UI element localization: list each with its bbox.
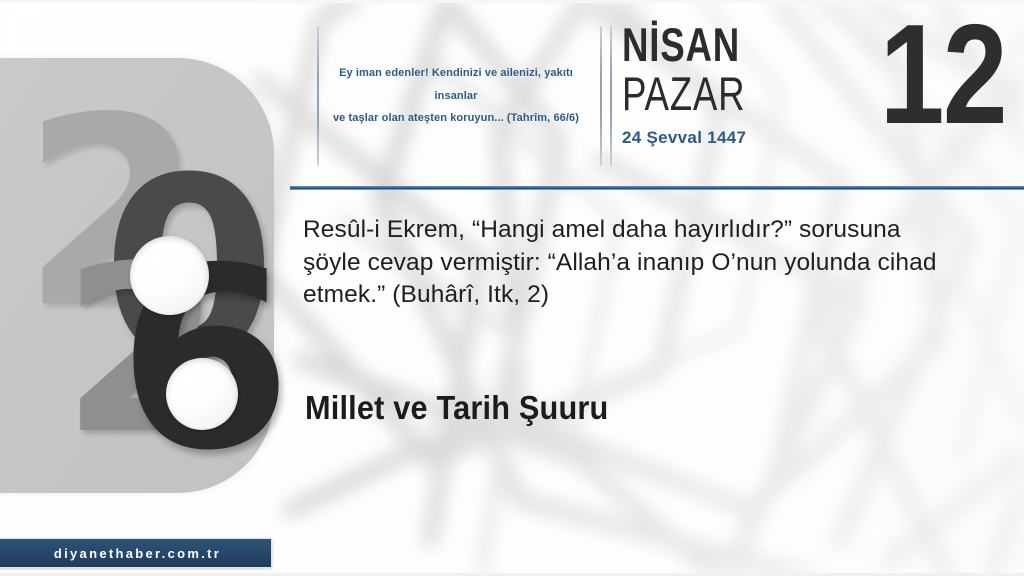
footer-url-text: diyanethaber.com.tr xyxy=(42,546,221,561)
verse-divider-right-inner xyxy=(610,26,612,166)
header-separator-rule xyxy=(290,186,1024,190)
footer-url-bar[interactable]: diyanethaber.com.tr xyxy=(0,538,272,568)
year-logo-counter-hole-lower xyxy=(166,358,238,430)
quran-verse-line-1: Ey iman edenler! Kendinizi ve ailenizi, … xyxy=(339,67,573,102)
date-block: NİSAN PAZAR 24 Şevval 1447 xyxy=(622,22,842,148)
quran-verse-text: Ey iman edenler! Kendinizi ve ailenizi, … xyxy=(320,62,592,130)
calendar-poster: 2 0 2 6 Ey iman edenler! Kendinizi ve ai… xyxy=(0,0,1024,576)
top-edge-strip xyxy=(0,0,1024,3)
quran-verse-block: Ey iman edenler! Kendinizi ve ailenizi, … xyxy=(306,26,606,166)
subject-title: Millet ve Tarih Şuuru xyxy=(305,389,608,427)
hadith-quote-text: Resûl-i Ekrem, “Hangi amel daha hayırlıd… xyxy=(303,214,963,312)
day-number: 12 xyxy=(880,4,1006,146)
weekday-name: PAZAR xyxy=(622,71,794,116)
year-logo-2026: 2 0 2 6 xyxy=(14,110,282,470)
month-name: NİSAN xyxy=(622,22,794,67)
quran-verse-line-2: ve taşlar olan ateşten koruyun... (Tahrî… xyxy=(333,112,579,124)
hijri-date: 24 Şevval 1447 xyxy=(622,128,842,148)
year-logo-counter-hole-upper xyxy=(130,236,209,315)
